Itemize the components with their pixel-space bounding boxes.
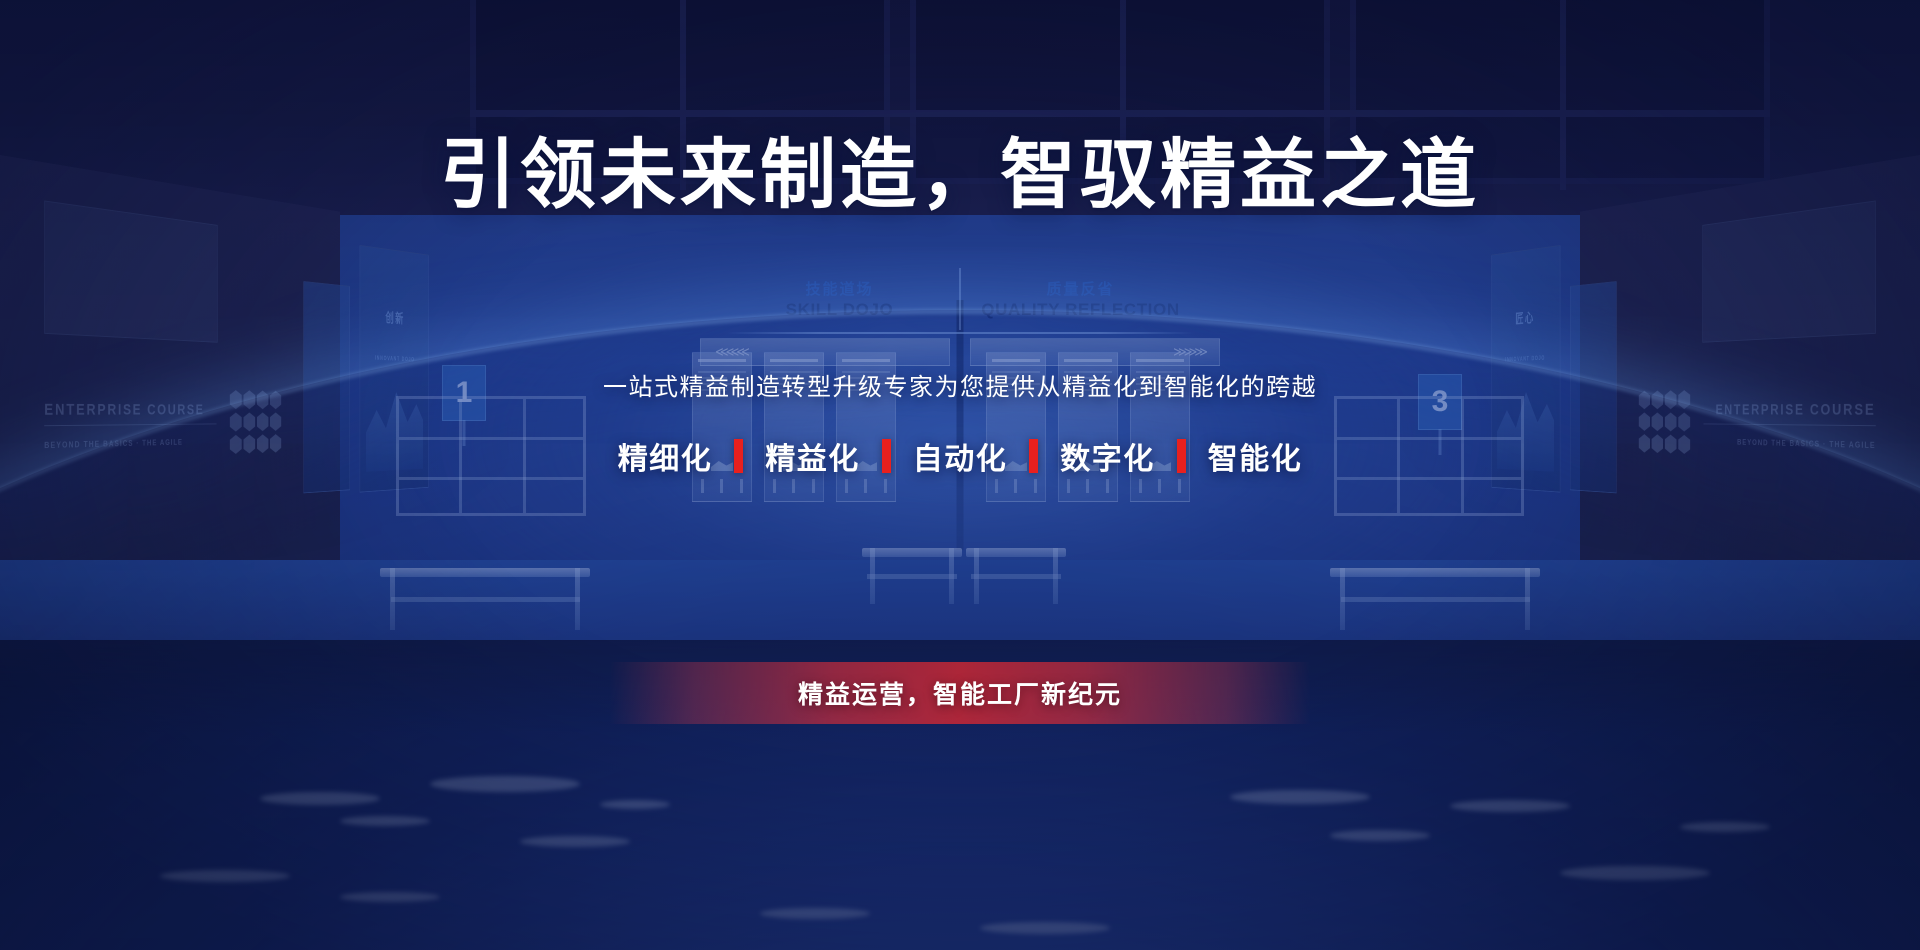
- keyword-item-0: 精细化: [618, 434, 713, 478]
- keyword-separator-icon: [734, 439, 743, 473]
- keyword-separator-icon: [1029, 439, 1038, 473]
- keyword-list: 精细化 精益化 自动化 数字化 智能化: [0, 434, 1920, 478]
- hero-banner: 技能道场 SKILL DOJO 质量反省 QUALITY REFLECTION …: [0, 0, 1920, 950]
- keyword-item-4: 智能化: [1208, 434, 1303, 478]
- keyword-item-3: 数字化: [1060, 434, 1155, 478]
- hero-subtitle: 一站式精益制造转型升级专家为您提供从精益化到智能化的跨越: [0, 367, 1920, 402]
- tagline-text: 精益运营，智能工厂新纪元: [798, 675, 1122, 711]
- keyword-separator-icon: [1177, 439, 1186, 473]
- hero-content: 引领未来制造，智驭精益之道 一站式精益制造转型升级专家为您提供从精益化到智能化的…: [0, 0, 1920, 950]
- hero-title: 引领未来制造，智驭精益之道: [0, 138, 1920, 214]
- keyword-item-1: 精益化: [765, 434, 860, 478]
- keyword-separator-icon: [882, 439, 891, 473]
- tagline-ribbon: 精益运营，智能工厂新纪元: [610, 662, 1310, 724]
- keyword-item-2: 自动化: [913, 434, 1008, 478]
